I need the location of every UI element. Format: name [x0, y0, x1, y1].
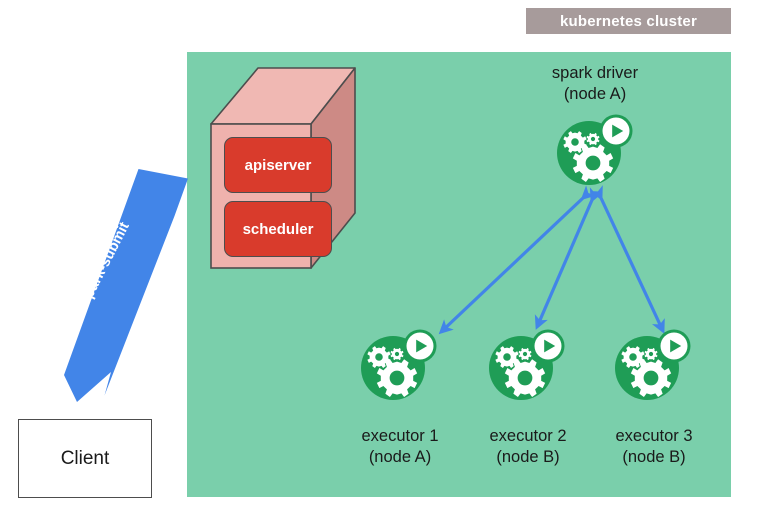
client-box: Client [18, 419, 152, 498]
executor-2-caption-line1: executor 2 [489, 427, 566, 445]
spark-gears-play-icon [611, 329, 695, 401]
control-plane-chip-apiserver: apiserver [224, 137, 332, 193]
spark-driver-caption: spark driver (node A) [520, 63, 670, 105]
diagram-canvas: kubernetes cluster spark-submit [0, 0, 761, 516]
control-plane-chip-scheduler: scheduler [224, 201, 332, 257]
spark-gears-play-icon [357, 329, 441, 401]
executor-2-caption: executor 2 (node B) [458, 426, 598, 468]
spark-driver-node [553, 114, 637, 186]
spark-gears-play-icon [553, 114, 637, 186]
spark-submit-arrow: spark-submit [55, 166, 203, 404]
executor-2-node [485, 329, 569, 401]
kubernetes-control-plane-cube: apiserver scheduler [203, 62, 363, 274]
spark-gears-play-icon [485, 329, 569, 401]
spark-driver-caption-line2: (node A) [520, 84, 670, 105]
executor-1-caption-line1: executor 1 [361, 427, 438, 445]
executor-3-caption-line2: (node B) [584, 447, 724, 468]
executor-2-caption-line2: (node B) [458, 447, 598, 468]
executor-3-caption-line1: executor 3 [615, 427, 692, 445]
kubernetes-cluster-badge: kubernetes cluster [526, 8, 731, 34]
executor-1-node [357, 329, 441, 401]
executor-1-caption: executor 1 (node A) [330, 426, 470, 468]
spark-driver-caption-line1: spark driver [552, 64, 638, 82]
executor-3-node [611, 329, 695, 401]
executor-3-caption: executor 3 (node B) [584, 426, 724, 468]
executor-1-caption-line2: (node A) [330, 447, 470, 468]
